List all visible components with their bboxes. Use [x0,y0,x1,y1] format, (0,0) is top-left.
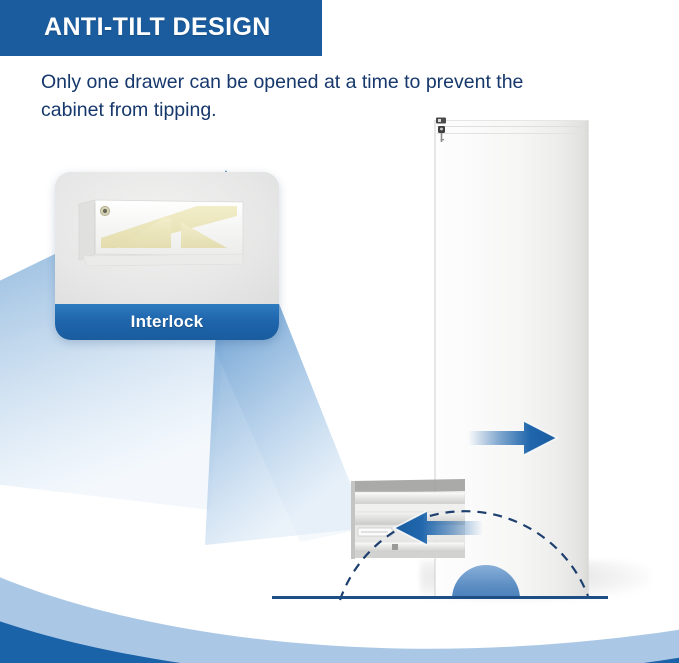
subtitle-text: Only one drawer can be opened at a time … [41,68,561,124]
page-title: ANTI-TILT DESIGN [44,13,271,42]
cabinet-lock-icon [435,117,451,145]
infographic-page: ANTI-TILT DESIGN Only one drawer can be … [0,0,679,663]
interlock-label: Interlock [55,304,279,340]
cabinet-top-seam-2 [437,133,587,134]
interlock-photo [55,172,279,305]
interlock-callout-card[interactable]: Interlock [55,172,279,340]
arrow-right-icon [468,419,558,457]
floor-line [272,596,608,599]
cabinet-top-seam-1 [437,126,587,127]
interlock-bracket-icon [77,198,245,268]
arrow-left-icon [393,508,483,548]
